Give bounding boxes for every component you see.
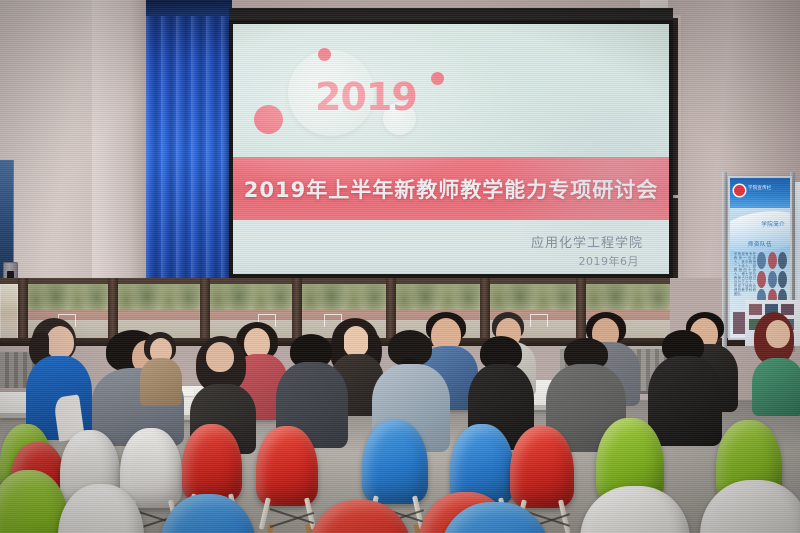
banner-section-title: 师资队伍 [730, 240, 790, 248]
slide-year-badge: 2019 [315, 75, 417, 119]
banner-subtitle: 学院简介 [761, 220, 785, 228]
banner-photo-grid [757, 252, 787, 306]
banner-body-text: 学院现有专任教师一百余人，其中教授二十余人，副教授四十余人，博士学位教师占比超过… [734, 252, 756, 296]
photo-scene: 2019 2019年上半年新教师教学能力专项研讨会 应用化学工程学院 2019年… [0, 0, 800, 533]
slide-dot-3 [254, 105, 283, 134]
presentation-slide: 2019 2019年上半年新教师教学能力专项研讨会 应用化学工程学院 2019年… [233, 24, 669, 274]
chair[interactable] [160, 494, 256, 533]
slide-title: 2019年上半年新教师教学能力专项研讨会 [233, 157, 669, 220]
chair[interactable] [308, 500, 412, 533]
banner-logo-text: 学院宣传栏 [748, 185, 772, 190]
banner-header: 学院宣传栏 [730, 178, 790, 208]
attendee [26, 318, 88, 438]
chair[interactable] [182, 424, 242, 502]
curtain-rail [146, 0, 232, 16]
chair[interactable] [580, 486, 690, 533]
banner-swoosh-decor [728, 206, 792, 258]
chair[interactable] [510, 426, 574, 508]
banner-logo-icon [734, 185, 745, 196]
slide-dot-1 [318, 48, 331, 61]
chair[interactable] [256, 426, 318, 506]
slide-date: 2019年6月 [579, 253, 640, 269]
slide-organization: 应用化学工程学院 [531, 232, 643, 251]
attendee [752, 312, 800, 412]
projector-screen: 2019 2019年上半年新教师教学能力专项研讨会 应用化学工程学院 2019年… [229, 20, 673, 278]
chair[interactable] [700, 480, 800, 533]
chair[interactable] [58, 484, 144, 533]
slide-title-band: 2019年上半年新教师教学能力专项研讨会 [233, 157, 669, 220]
chair[interactable] [440, 502, 550, 533]
attendee [140, 332, 180, 402]
window-pane [0, 284, 18, 340]
slide-dot-2 [431, 72, 444, 85]
